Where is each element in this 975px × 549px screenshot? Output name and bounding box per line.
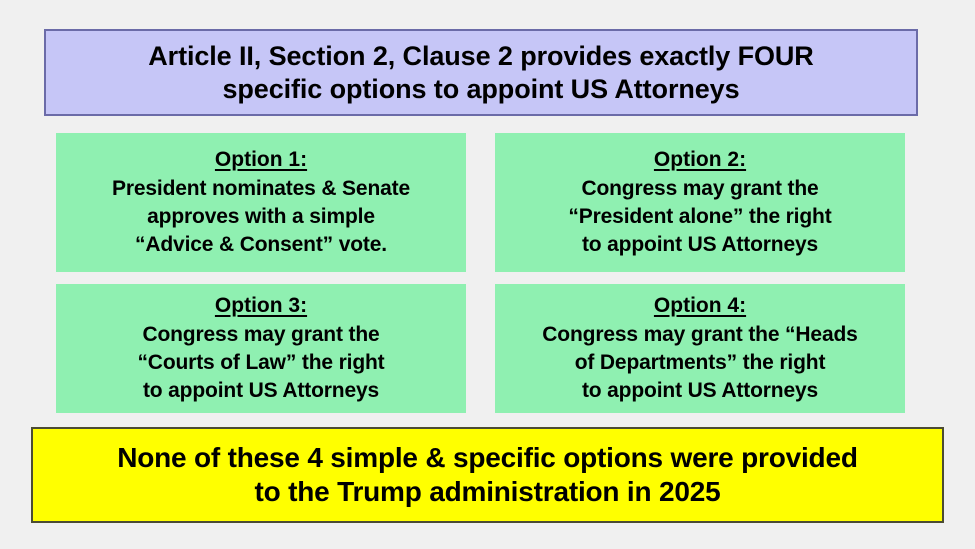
option-box-2: Option 2: Congress may grant the “Presid… [495, 133, 905, 272]
option-box-3: Option 3: Congress may grant the “Courts… [56, 284, 466, 413]
footer-text: None of these 4 simple & specific option… [117, 441, 858, 509]
option-box-1: Option 1: President nominates & Senate a… [56, 133, 466, 272]
option-grid: Option 1: President nominates & Senate a… [56, 133, 905, 413]
footer-banner: None of these 4 simple & specific option… [31, 427, 944, 523]
option-3-body: Congress may grant the “Courts of Law” t… [137, 321, 384, 405]
option-3-heading: Option 3: [215, 292, 307, 319]
option-4-heading: Option 4: [654, 292, 746, 319]
slide-canvas: Article II, Section 2, Clause 2 provides… [0, 0, 975, 549]
title-text: Article II, Section 2, Clause 2 provides… [148, 40, 813, 106]
option-box-4: Option 4: Congress may grant the “Heads … [495, 284, 905, 413]
option-4-body: Congress may grant the “Heads of Departm… [542, 321, 857, 405]
option-1-heading: Option 1: [215, 146, 307, 173]
option-2-body: Congress may grant the “President alone”… [568, 175, 831, 259]
title-banner: Article II, Section 2, Clause 2 provides… [44, 29, 918, 116]
option-1-body: President nominates & Senate approves wi… [112, 175, 410, 259]
option-2-heading: Option 2: [654, 146, 746, 173]
